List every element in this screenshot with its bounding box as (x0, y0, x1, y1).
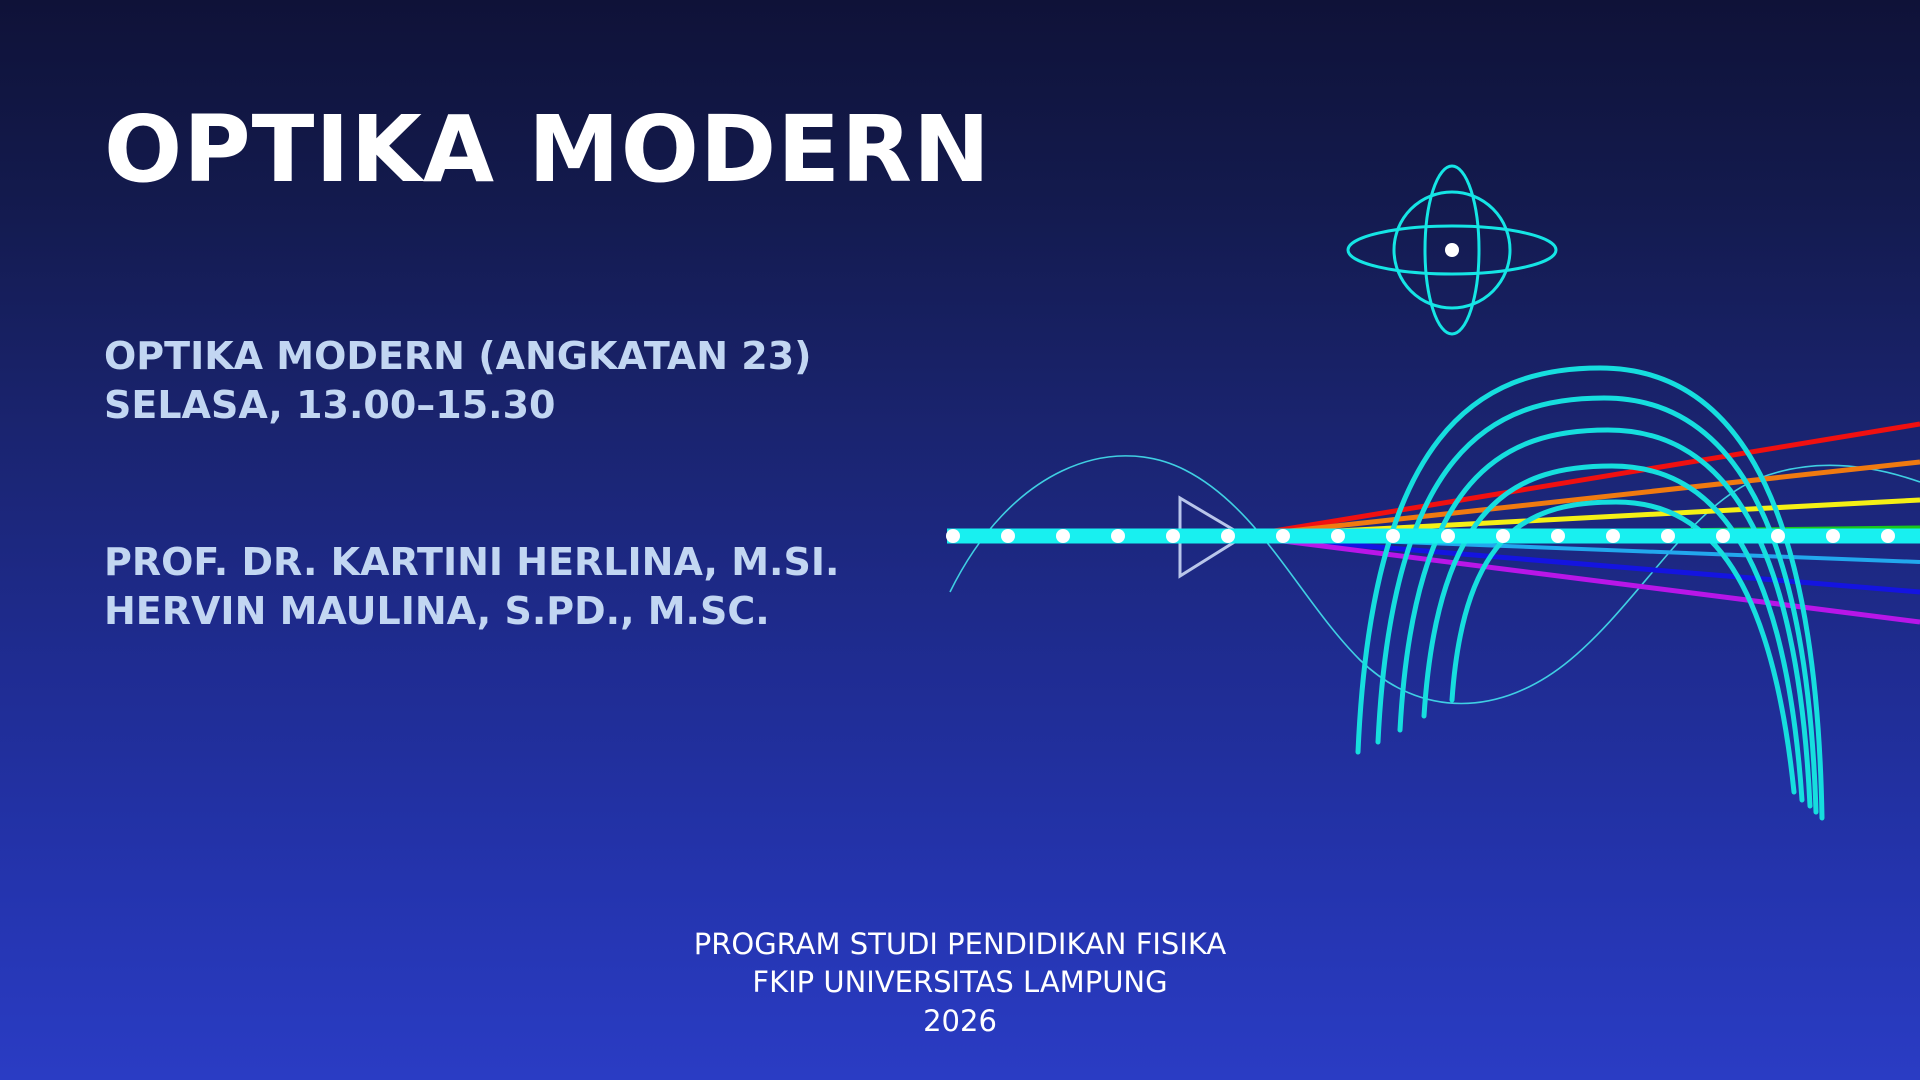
course-name-line: OPTIKA MODERN (ANGKATAN 23) (104, 332, 812, 381)
presentation-slide: OPTIKA MODERN OPTIKA MODERN (ANGKATAN 23… (0, 0, 1920, 1080)
page-title: OPTIKA MODERN (104, 102, 991, 199)
lecturer-name-1: PROF. DR. KARTINI HERLINA, M.SI. (104, 538, 839, 587)
year-line: 2026 (0, 1002, 1920, 1040)
institution-block: PROGRAM STUDI PENDIDIKAN FISIKA FKIP UNI… (0, 925, 1920, 1040)
slide-text-layer: OPTIKA MODERN OPTIKA MODERN (ANGKATAN 23… (0, 0, 1920, 1080)
lecturers-block: PROF. DR. KARTINI HERLINA, M.SI. HERVIN … (104, 538, 839, 635)
course-info-block: OPTIKA MODERN (ANGKATAN 23) SELASA, 13.0… (104, 332, 812, 429)
course-schedule-line: SELASA, 13.00–15.30 (104, 381, 812, 430)
faculty-line: FKIP UNIVERSITAS LAMPUNG (0, 963, 1920, 1001)
lecturer-name-2: HERVIN MAULINA, S.PD., M.SC. (104, 587, 839, 636)
program-line: PROGRAM STUDI PENDIDIKAN FISIKA (0, 925, 1920, 963)
